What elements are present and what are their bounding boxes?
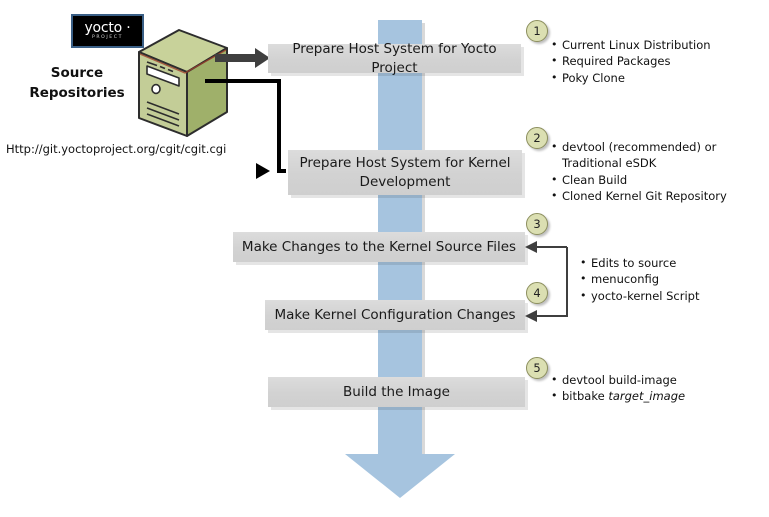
list-item: devtool (recommended) or Traditional eSD… <box>551 139 763 172</box>
step-number-badge-5: 5 <box>526 357 548 379</box>
bullet-list-step1: Current Linux Distribution Required Pack… <box>551 37 763 86</box>
diagram-canvas: yocto · PROJECT Source Repositories Http… <box>0 0 769 517</box>
process-box-prepare-host-yocto[interactable]: Prepare Host System for Yocto Project <box>268 44 521 73</box>
list-item: bitbake target_image <box>551 388 763 404</box>
list-item: Current Linux Distribution <box>551 37 763 53</box>
step-number-text: 1 <box>533 24 540 38</box>
step-number-badge-1: 1 <box>526 20 548 42</box>
list-item: yocto-kernel Script <box>580 288 765 304</box>
step-number-text: 5 <box>533 361 540 375</box>
process-box-prepare-host-kernel[interactable]: Prepare Host System for Kernel Developme… <box>288 150 522 195</box>
process-box-build-the-image[interactable]: Build the Image <box>268 377 525 407</box>
step-number-badge-2: 2 <box>526 127 548 149</box>
step-number-text: 2 <box>533 131 540 145</box>
step-number-badge-4: 4 <box>526 282 548 304</box>
process-box-label: Prepare Host System for Kernel Developme… <box>299 154 510 190</box>
bullet-list-steps-3-and-4: Edits to source menuconfig yocto-kernel … <box>580 255 765 304</box>
connector-server-to-step1 <box>215 54 259 62</box>
connector-server-to-step2-segment-bottom <box>277 169 286 173</box>
arrow-head-icon-step4 <box>525 310 537 322</box>
step-number-badge-3: 3 <box>526 213 548 235</box>
step-number-text: 4 <box>533 286 540 300</box>
list-item: Clean Build <box>551 172 763 188</box>
logo-wordmark: yocto · <box>84 21 130 35</box>
server-tower-icon <box>135 28 231 140</box>
list-item: menuconfig <box>580 271 765 287</box>
source-repositories-url: Http://git.yoctoproject.org/cgit/cgit.cg… <box>6 142 226 156</box>
list-item: Cloned Kernel Git Repository <box>551 188 763 204</box>
arrow-head-icon-step2 <box>256 163 270 179</box>
process-box-label: Make Changes to the Kernel Source Files <box>242 238 516 256</box>
bullet-list-step2: devtool (recommended) or Traditional eSD… <box>551 139 763 204</box>
connector-bracket-vertical <box>566 247 568 317</box>
list-item-prefix: bitbake <box>562 389 608 403</box>
list-item: devtool build-image <box>551 372 763 388</box>
yocto-project-logo: yocto · PROJECT <box>71 14 144 48</box>
arrow-head-icon-step3 <box>525 241 537 253</box>
bullet-list-step5: devtool build-image bitbake target_image <box>551 372 763 405</box>
connector-server-to-step2-segment-vertical <box>277 79 281 172</box>
logo-subtext: PROJECT <box>92 36 123 41</box>
connector-bracket-to-step4 <box>535 315 567 317</box>
connector-bracket-to-step3 <box>535 246 567 248</box>
list-item-emphasis: target_image <box>608 389 685 403</box>
process-box-label: Make Kernel Configuration Changes <box>274 306 515 324</box>
process-box-label: Prepare Host System for Yocto Project <box>268 40 521 76</box>
connector-server-to-step2-segment-top <box>205 79 281 83</box>
list-item: Edits to source <box>580 255 765 271</box>
source-repositories-label: Source Repositories <box>18 64 136 103</box>
step-number-text: 3 <box>533 217 540 231</box>
process-box-label: Build the Image <box>343 383 450 401</box>
process-box-make-kernel-source-changes[interactable]: Make Changes to the Kernel Source Files <box>233 232 525 262</box>
process-box-make-kernel-config-changes[interactable]: Make Kernel Configuration Changes <box>265 300 525 330</box>
list-item: Poky Clone <box>551 70 763 86</box>
list-item: Required Packages <box>551 53 763 69</box>
flow-arrow-head-icon <box>345 454 455 498</box>
